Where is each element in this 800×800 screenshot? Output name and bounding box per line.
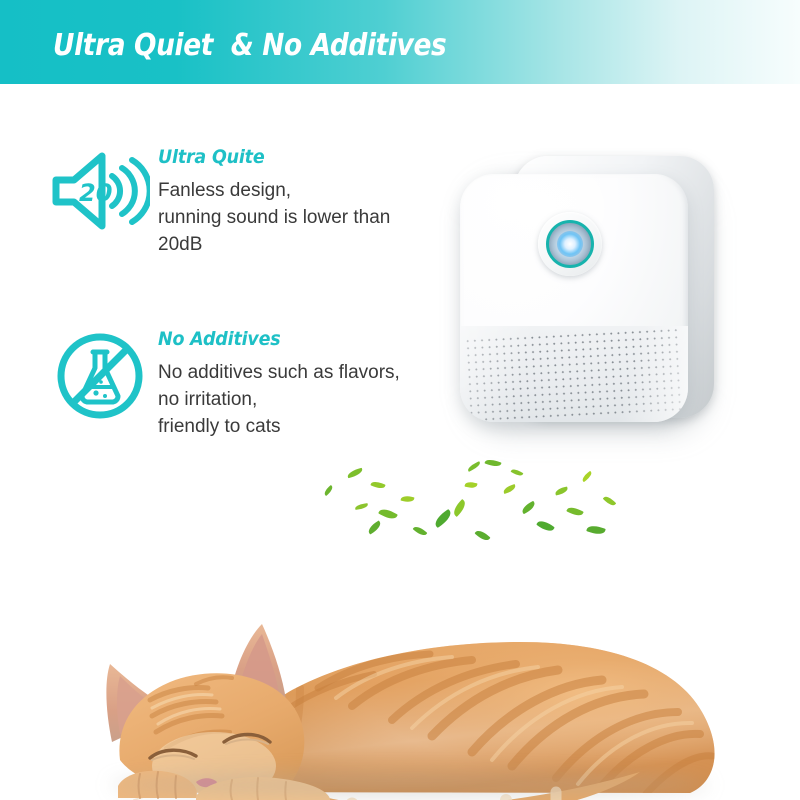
feature-text-no-additives: No Additives No additives such as flavor… <box>152 328 400 440</box>
feature-block-ultra-quiet: 20 Ultra Quite Fanless design, running s… <box>48 146 390 258</box>
floating-leaves-graphic <box>315 452 625 562</box>
led-ring <box>546 220 594 268</box>
sleeping-orange-tabby-cat-photo <box>0 560 800 800</box>
leaf <box>451 499 468 517</box>
perforated-vent-panel <box>460 326 688 422</box>
leaf <box>566 505 583 518</box>
speaker-20db-icon: 20 <box>48 146 152 234</box>
leaf <box>475 528 491 543</box>
leaf <box>464 481 477 490</box>
leaf <box>467 461 482 472</box>
leaf <box>355 503 369 510</box>
led-indicator-button[interactable] <box>538 212 602 276</box>
leaf <box>603 494 617 507</box>
feature-block-no-additives: No Additives No additives such as flavor… <box>48 328 400 440</box>
leaf <box>581 471 594 482</box>
feature-heading-no-additives: No Additives <box>158 328 380 350</box>
leaf <box>370 480 385 491</box>
leaf <box>413 524 428 537</box>
leaf <box>346 468 363 479</box>
page-title: Ultra Quiet & No Additives <box>53 28 446 63</box>
header-banner: Ultra Quiet & No Additives <box>0 0 800 84</box>
feature-body-no-additives: No additives such as flavors, no irritat… <box>158 359 400 440</box>
leaf <box>554 487 568 496</box>
leaf <box>401 495 415 504</box>
leaf <box>536 518 555 534</box>
leaf <box>432 509 453 528</box>
cat-illustration <box>0 560 800 800</box>
feature-heading-ultra-quiet: Ultra Quite <box>158 146 372 168</box>
leaf <box>323 485 335 496</box>
leaf <box>520 501 536 515</box>
leaf <box>366 520 382 534</box>
cat-ground-shadow <box>110 772 710 798</box>
vent-shading-overlay <box>460 326 688 422</box>
leaf <box>511 467 524 477</box>
feature-body-ultra-quiet: Fanless design, running sound is lower t… <box>158 177 390 258</box>
air-purifier-device <box>452 152 732 462</box>
no-additives-flask-icon <box>48 328 152 422</box>
leaf <box>502 484 516 494</box>
feature-text-ultra-quiet: Ultra Quite Fanless design, running soun… <box>152 146 390 258</box>
led-glow <box>557 231 583 257</box>
speaker-icon-db-value: 20 <box>79 179 112 207</box>
leaf <box>586 523 606 536</box>
device-front-face <box>460 174 688 422</box>
leaf <box>378 506 398 522</box>
leaf <box>484 458 501 469</box>
